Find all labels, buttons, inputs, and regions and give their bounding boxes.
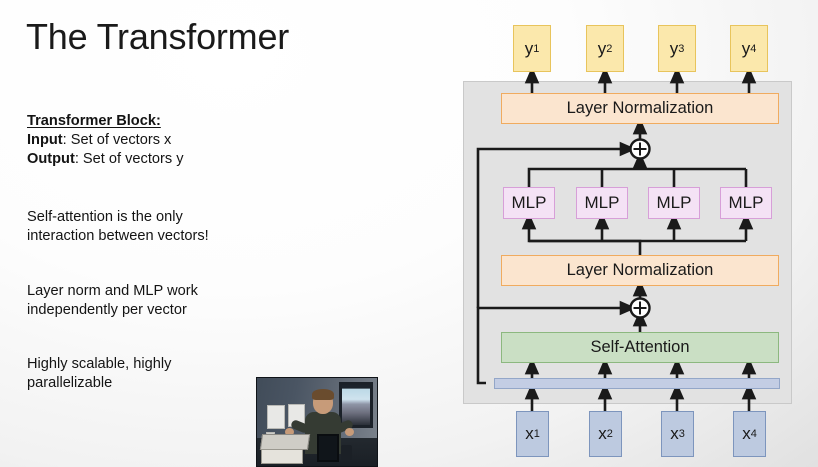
layer-normalization-label: Layer Normalization [567,99,714,118]
input-vector-x3[interactable]: x3 [661,411,694,457]
transformer-block-diagram: y1 y2 y3 y4 Layer Normalization MLP MLP … [0,0,818,467]
input-vector-x4[interactable]: x4 [733,411,766,457]
output-vector-label: y [670,39,679,59]
input-vector-x1[interactable]: x1 [516,411,549,457]
input-vector-label: x [670,424,679,444]
output-vector-label: y [525,39,534,59]
layer-normalization-label: Layer Normalization [567,261,714,280]
output-vector-y4[interactable]: y4 [730,25,768,72]
input-vector-x2[interactable]: x2 [589,411,622,457]
input-bus [494,378,780,389]
output-vector-index: 4 [750,43,756,55]
layer-normalization-mid[interactable]: Layer Normalization [501,255,779,286]
mlp-label: MLP [512,193,547,213]
mlp-label: MLP [657,193,692,213]
output-vector-index: 3 [678,43,684,55]
mlp-block-1[interactable]: MLP [503,187,555,219]
mlp-block-4[interactable]: MLP [720,187,772,219]
input-vector-label: x [598,424,607,444]
output-vector-label: y [598,39,607,59]
input-vector-index: 3 [679,428,685,440]
output-vector-label: y [742,39,751,59]
input-vector-label: x [525,424,534,444]
mlp-label: MLP [585,193,620,213]
input-vector-label: x [742,424,751,444]
input-vector-index: 1 [534,428,540,440]
mlp-block-2[interactable]: MLP [576,187,628,219]
input-vector-index: 2 [607,428,613,440]
output-vector-y2[interactable]: y2 [586,25,624,72]
self-attention-label: Self-Attention [590,338,689,357]
output-vector-index: 2 [606,43,612,55]
slide-canvas: The Transformer Transformer Block: Input… [0,0,818,467]
output-vector-index: 1 [533,43,539,55]
layer-normalization-top[interactable]: Layer Normalization [501,93,779,124]
output-vector-y3[interactable]: y3 [658,25,696,72]
output-vector-y1[interactable]: y1 [513,25,551,72]
self-attention-block[interactable]: Self-Attention [501,332,779,363]
input-vector-index: 4 [751,428,757,440]
mlp-block-3[interactable]: MLP [648,187,700,219]
mlp-label: MLP [729,193,764,213]
